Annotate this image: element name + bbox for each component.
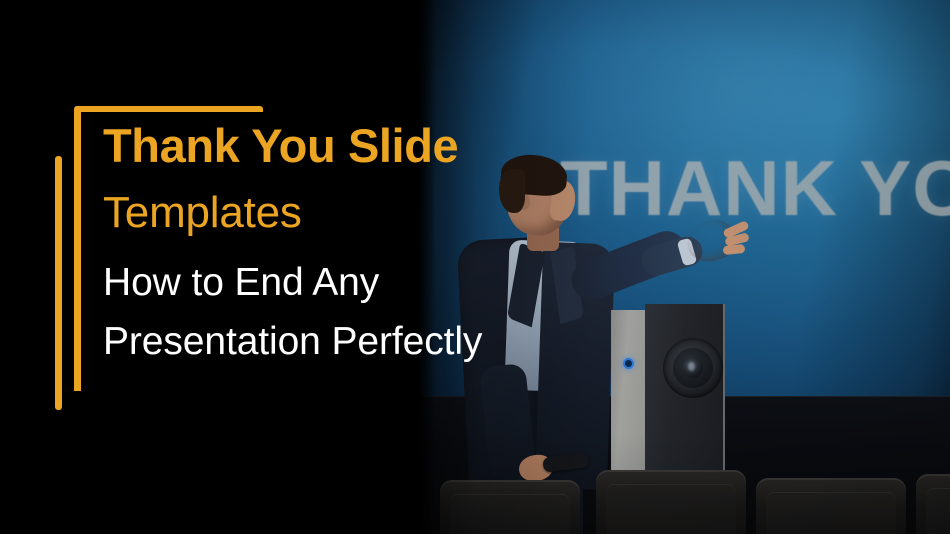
audience-chair: [916, 474, 950, 534]
accent-bar-icon: [55, 156, 62, 410]
audience-chair: [440, 480, 580, 534]
audience-chair: [596, 470, 746, 534]
subheading-line-2: Presentation Perfectly: [103, 322, 803, 361]
chair-back: [450, 494, 570, 534]
chair-back: [766, 492, 896, 534]
headline-line-2: Templates: [103, 191, 803, 235]
subheading-line-1: How to End Any: [103, 263, 803, 302]
camera-lens-highlight: [688, 362, 695, 371]
thank-you-slide-banner: THANK YOU: [0, 0, 950, 534]
chair-back: [926, 488, 950, 534]
headline-line-1: Thank You Slide: [103, 122, 803, 169]
title-text-block: Thank You Slide Templates How to End Any…: [103, 122, 803, 361]
chair-back: [606, 484, 736, 534]
audience-chair: [756, 478, 906, 534]
